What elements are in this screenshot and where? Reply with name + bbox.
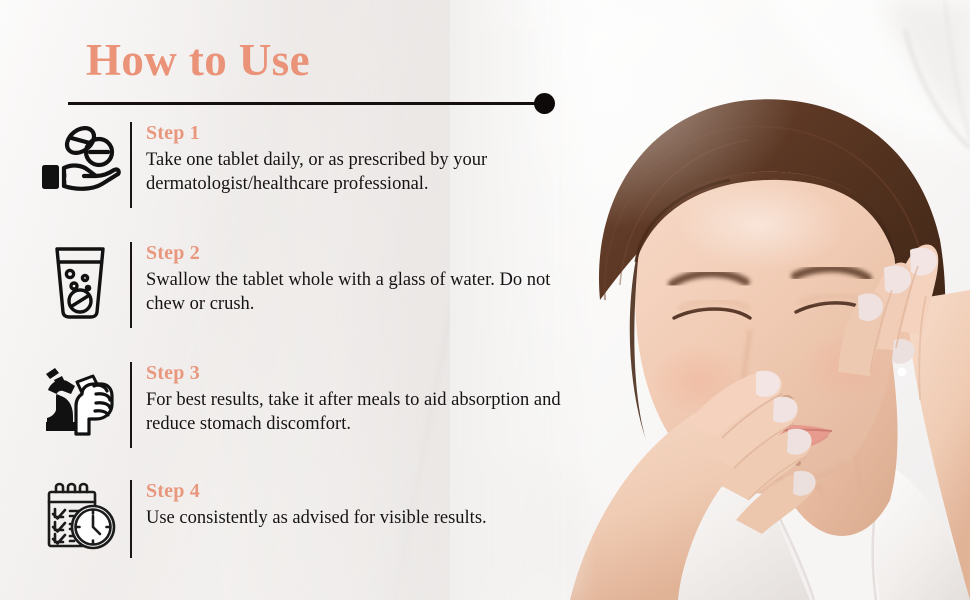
- step-item-3: Step 3 For best results, take it after m…: [30, 362, 590, 450]
- glass-of-water-with-tablet-icon: [30, 242, 130, 320]
- step-label-4: Step 4: [146, 480, 590, 502]
- page-title: How to Use: [86, 38, 310, 83]
- step-text-2: Swallow the tablet whole with a glass of…: [146, 268, 576, 317]
- hand-holding-pills-icon: [30, 122, 130, 194]
- step-item-1: Step 1 Take one tablet daily, or as pres…: [30, 122, 590, 210]
- step-text-4: Use consistently as advised for visible …: [146, 506, 576, 530]
- how-to-use-slide: How to Use: [0, 0, 970, 600]
- step-content-4: Step 4 Use consistently as advised for v…: [146, 480, 590, 530]
- step-text-1: Take one tablet daily, or as prescribed …: [146, 148, 576, 197]
- step-item-4: Step 4 Use consistently as advised for v…: [30, 480, 590, 560]
- checklist-clock-icon: [30, 480, 130, 554]
- step-content-1: Step 1 Take one tablet daily, or as pres…: [146, 122, 590, 197]
- step-divider-3: [130, 362, 132, 448]
- step-item-2: Step 2 Swallow the tablet whole with a g…: [30, 242, 590, 330]
- title-underline: [68, 93, 558, 115]
- step-content-2: Step 2 Swallow the tablet whole with a g…: [146, 242, 590, 317]
- step-label-2: Step 2: [146, 242, 590, 264]
- step-label-1: Step 1: [146, 122, 590, 144]
- step-label-3: Step 3: [146, 362, 590, 384]
- person-taking-pill-icon: [30, 362, 130, 438]
- step-divider-1: [130, 122, 132, 208]
- step-content-3: Step 3 For best results, take it after m…: [146, 362, 590, 437]
- step-divider-4: [130, 480, 132, 558]
- step-divider-2: [130, 242, 132, 328]
- step-text-3: For best results, take it after meals to…: [146, 388, 576, 437]
- title-rule-line: [68, 102, 545, 105]
- title-rule-dot: [534, 93, 555, 114]
